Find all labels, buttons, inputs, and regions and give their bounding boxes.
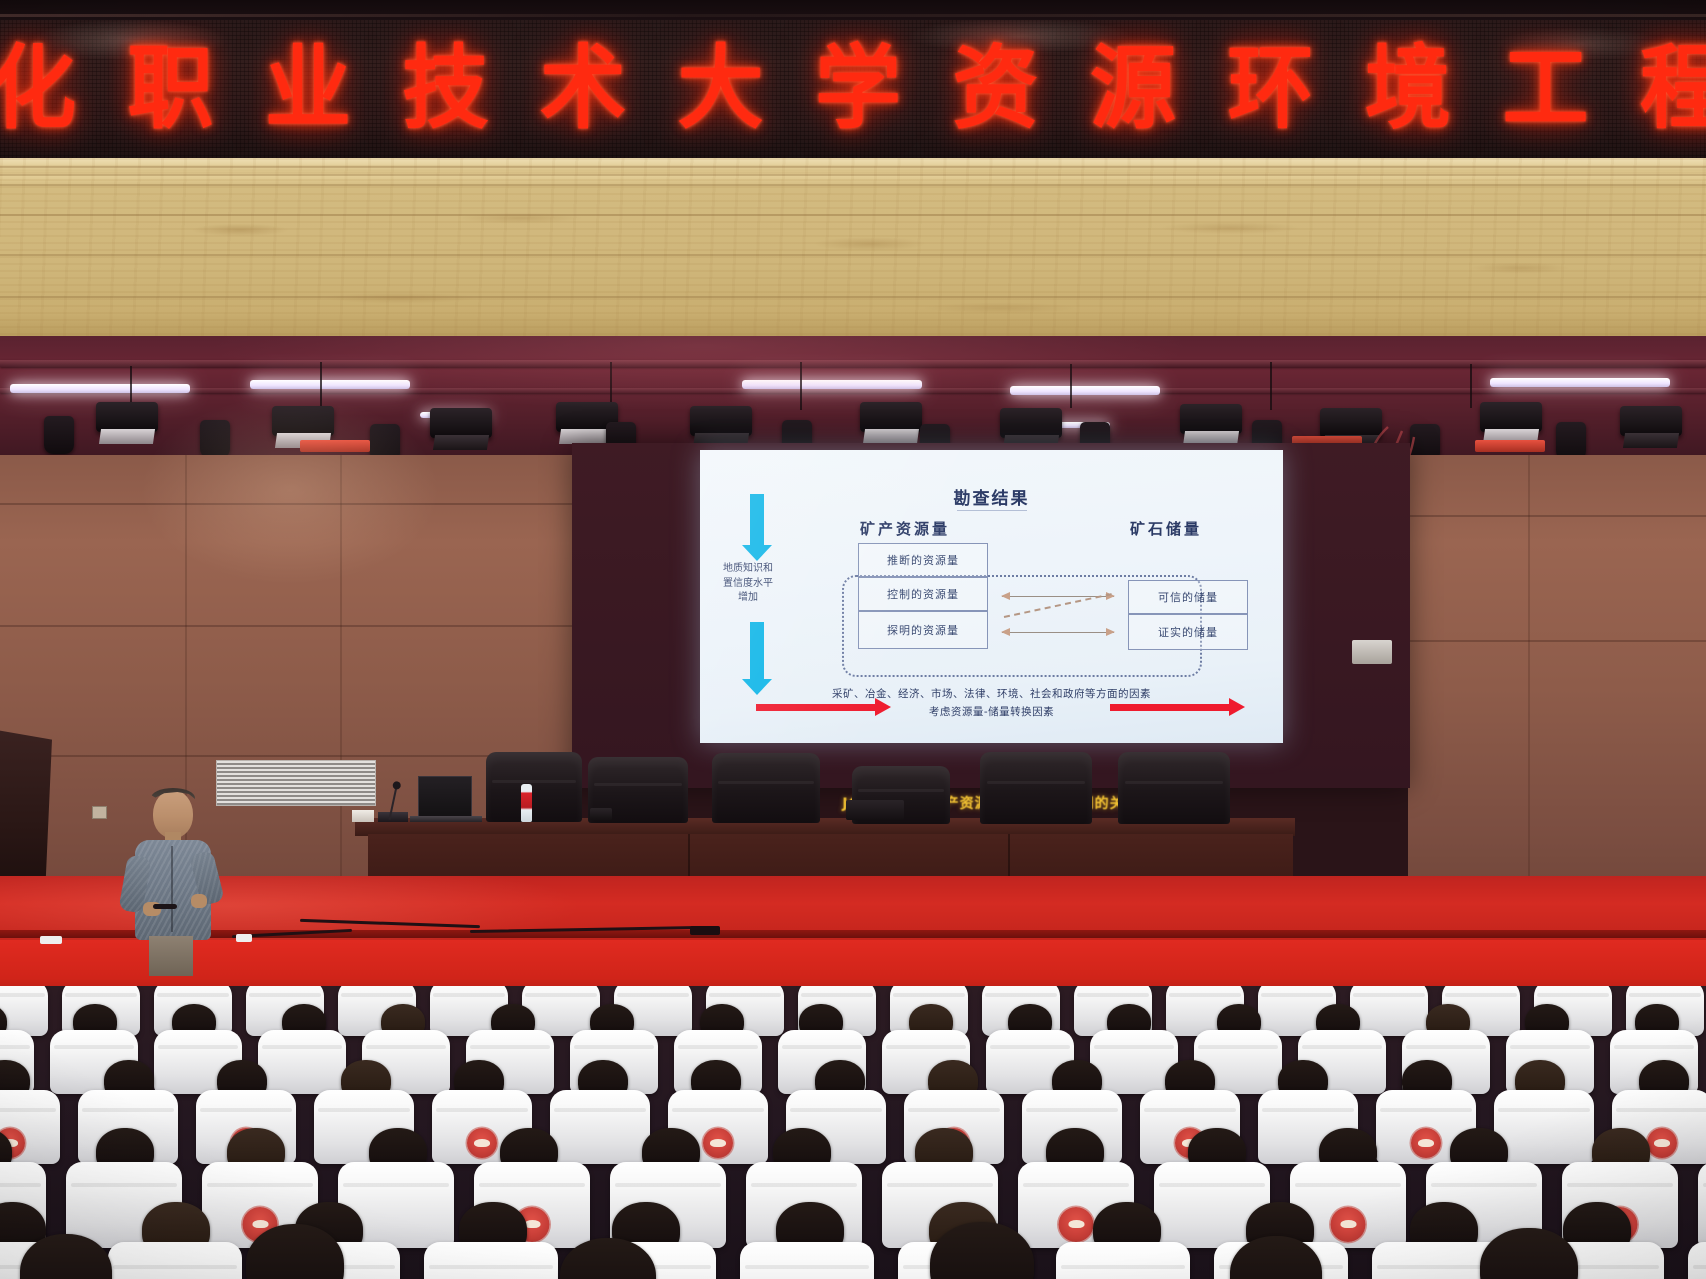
audience-seat[interactable]	[424, 1242, 558, 1279]
table-name-card	[352, 810, 374, 822]
led-char: 业	[265, 43, 351, 134]
floor-device	[690, 926, 720, 935]
led-char: 学	[815, 43, 901, 134]
fluorescent-tube	[742, 380, 922, 389]
led-char: 境	[1365, 43, 1451, 134]
stage-chair	[980, 752, 1092, 824]
left-axis-label: 地质知识和 置信度水平 增加	[708, 562, 788, 606]
presenter	[115, 790, 225, 970]
led-char: 工	[1503, 43, 1589, 134]
auditorium-scene: 化职业技术大学资源环境工程	[0, 0, 1706, 1279]
presenter-head	[153, 790, 193, 838]
stage-spotlight	[690, 406, 752, 436]
left-axis-label-line-1: 地质知识和	[708, 562, 788, 577]
stage-spotlight	[860, 402, 922, 432]
fluorescent-tube	[1010, 386, 1160, 395]
cell-indicated-resource: 控制的资源量	[858, 577, 988, 611]
led-banner: 化职业技术大学资源环境工程	[0, 20, 1706, 160]
blue-down-arrow-top	[750, 494, 764, 546]
cell-probable-reserve: 可信的储量	[1128, 580, 1248, 614]
seat-school-logo	[1331, 1207, 1366, 1242]
slide-title: 勘查结果	[700, 484, 1283, 509]
stage-spotlight	[556, 402, 618, 432]
audience-seat[interactable]	[1494, 1090, 1594, 1164]
column-header-reserves: 矿石储量	[1130, 518, 1202, 539]
audience-seat[interactable]	[1698, 1162, 1706, 1248]
seat-school-logo	[1411, 1128, 1441, 1158]
audience-seat[interactable]	[1350, 986, 1428, 1036]
led-char: 资	[953, 43, 1039, 134]
led-char: 术	[540, 43, 626, 134]
cell-measured-resource: 探明的资源量	[858, 611, 988, 649]
led-char: 大	[678, 43, 764, 134]
laptop-base	[410, 816, 482, 822]
seat-school-logo	[467, 1128, 497, 1158]
laptop-screen	[418, 776, 472, 820]
audience-seat[interactable]	[1056, 1242, 1190, 1279]
led-banner-text: 化职业技术大学资源环境工程	[0, 46, 1706, 132]
moving-head-light	[44, 416, 74, 454]
stage-chair	[712, 753, 820, 823]
fluorescent-tube	[1020, 422, 1110, 428]
audience-seating	[0, 986, 1706, 1279]
presenter-right-hand	[191, 894, 207, 908]
floor-light-fixture	[40, 936, 62, 944]
wood-ceiling-panel	[0, 158, 1706, 338]
cell-proved-reserve: 证实的储量	[1128, 614, 1248, 650]
cell-inferred-resource: 推断的资源量	[858, 543, 988, 577]
seat-school-logo	[1647, 1128, 1677, 1158]
led-char: 环	[1228, 43, 1314, 134]
led-char: 技	[403, 43, 489, 134]
seat-school-logo	[1059, 1207, 1094, 1242]
led-char: 源	[1090, 43, 1176, 134]
laser-pointer	[153, 904, 177, 909]
stage-spotlight	[96, 402, 158, 432]
audience-seat[interactable]	[550, 1090, 650, 1164]
audience-seat[interactable]	[1688, 1242, 1706, 1279]
fluorescent-tube	[1490, 378, 1670, 387]
audience-seat[interactable]	[740, 1242, 874, 1279]
wall-air-vent	[216, 760, 376, 806]
fluorescent-tube	[10, 384, 190, 393]
table-device-right	[846, 800, 904, 820]
red-arrow-right	[1110, 704, 1230, 711]
stage-chair	[1118, 752, 1230, 824]
red-arrow-left	[756, 704, 876, 711]
fluorescent-tube	[420, 412, 490, 418]
floor-light-fixture	[236, 934, 252, 942]
blue-down-arrow-bottom	[750, 622, 764, 680]
left-axis-label-line-3: 增加	[708, 591, 788, 606]
stage-chair	[486, 752, 582, 822]
seat-school-logo	[703, 1128, 733, 1158]
slide-footer-line-1: 采矿、冶金、经济、市场、法律、环境、社会和政府等方面的因素	[700, 686, 1283, 701]
stage-spotlight	[1480, 402, 1542, 432]
led-char: 化	[0, 43, 76, 134]
table-device-panel	[1352, 640, 1392, 664]
projection-screen: 勘查结果 地质知识和 置信度水平 增加 矿产资源量 矿石储量 推断的资源量 控制…	[700, 450, 1283, 743]
right-wall	[1408, 455, 1706, 940]
audience-seat[interactable]	[258, 1030, 346, 1094]
stage-spotlight	[1620, 406, 1682, 436]
stage-spotlight	[1000, 408, 1062, 438]
stage-spotlight	[430, 408, 492, 438]
water-bottle	[521, 784, 532, 822]
wall-power-outlet	[92, 806, 107, 819]
led-char: 程	[1640, 43, 1706, 134]
stage-spotlight	[1180, 404, 1242, 434]
conversion-arrow-lower	[1002, 632, 1114, 633]
microphone-base	[378, 812, 408, 822]
presenter-trousers	[149, 936, 193, 976]
table-device-left	[590, 808, 612, 820]
lectern-podium	[0, 730, 52, 890]
audience-seat[interactable]	[0, 986, 48, 1036]
left-axis-label-line-2: 置信度水平	[708, 577, 788, 592]
fluorescent-tube	[250, 380, 410, 389]
column-header-resources: 矿产资源量	[860, 518, 950, 539]
led-char: 职	[128, 43, 214, 134]
audience-seat[interactable]	[108, 1242, 242, 1279]
